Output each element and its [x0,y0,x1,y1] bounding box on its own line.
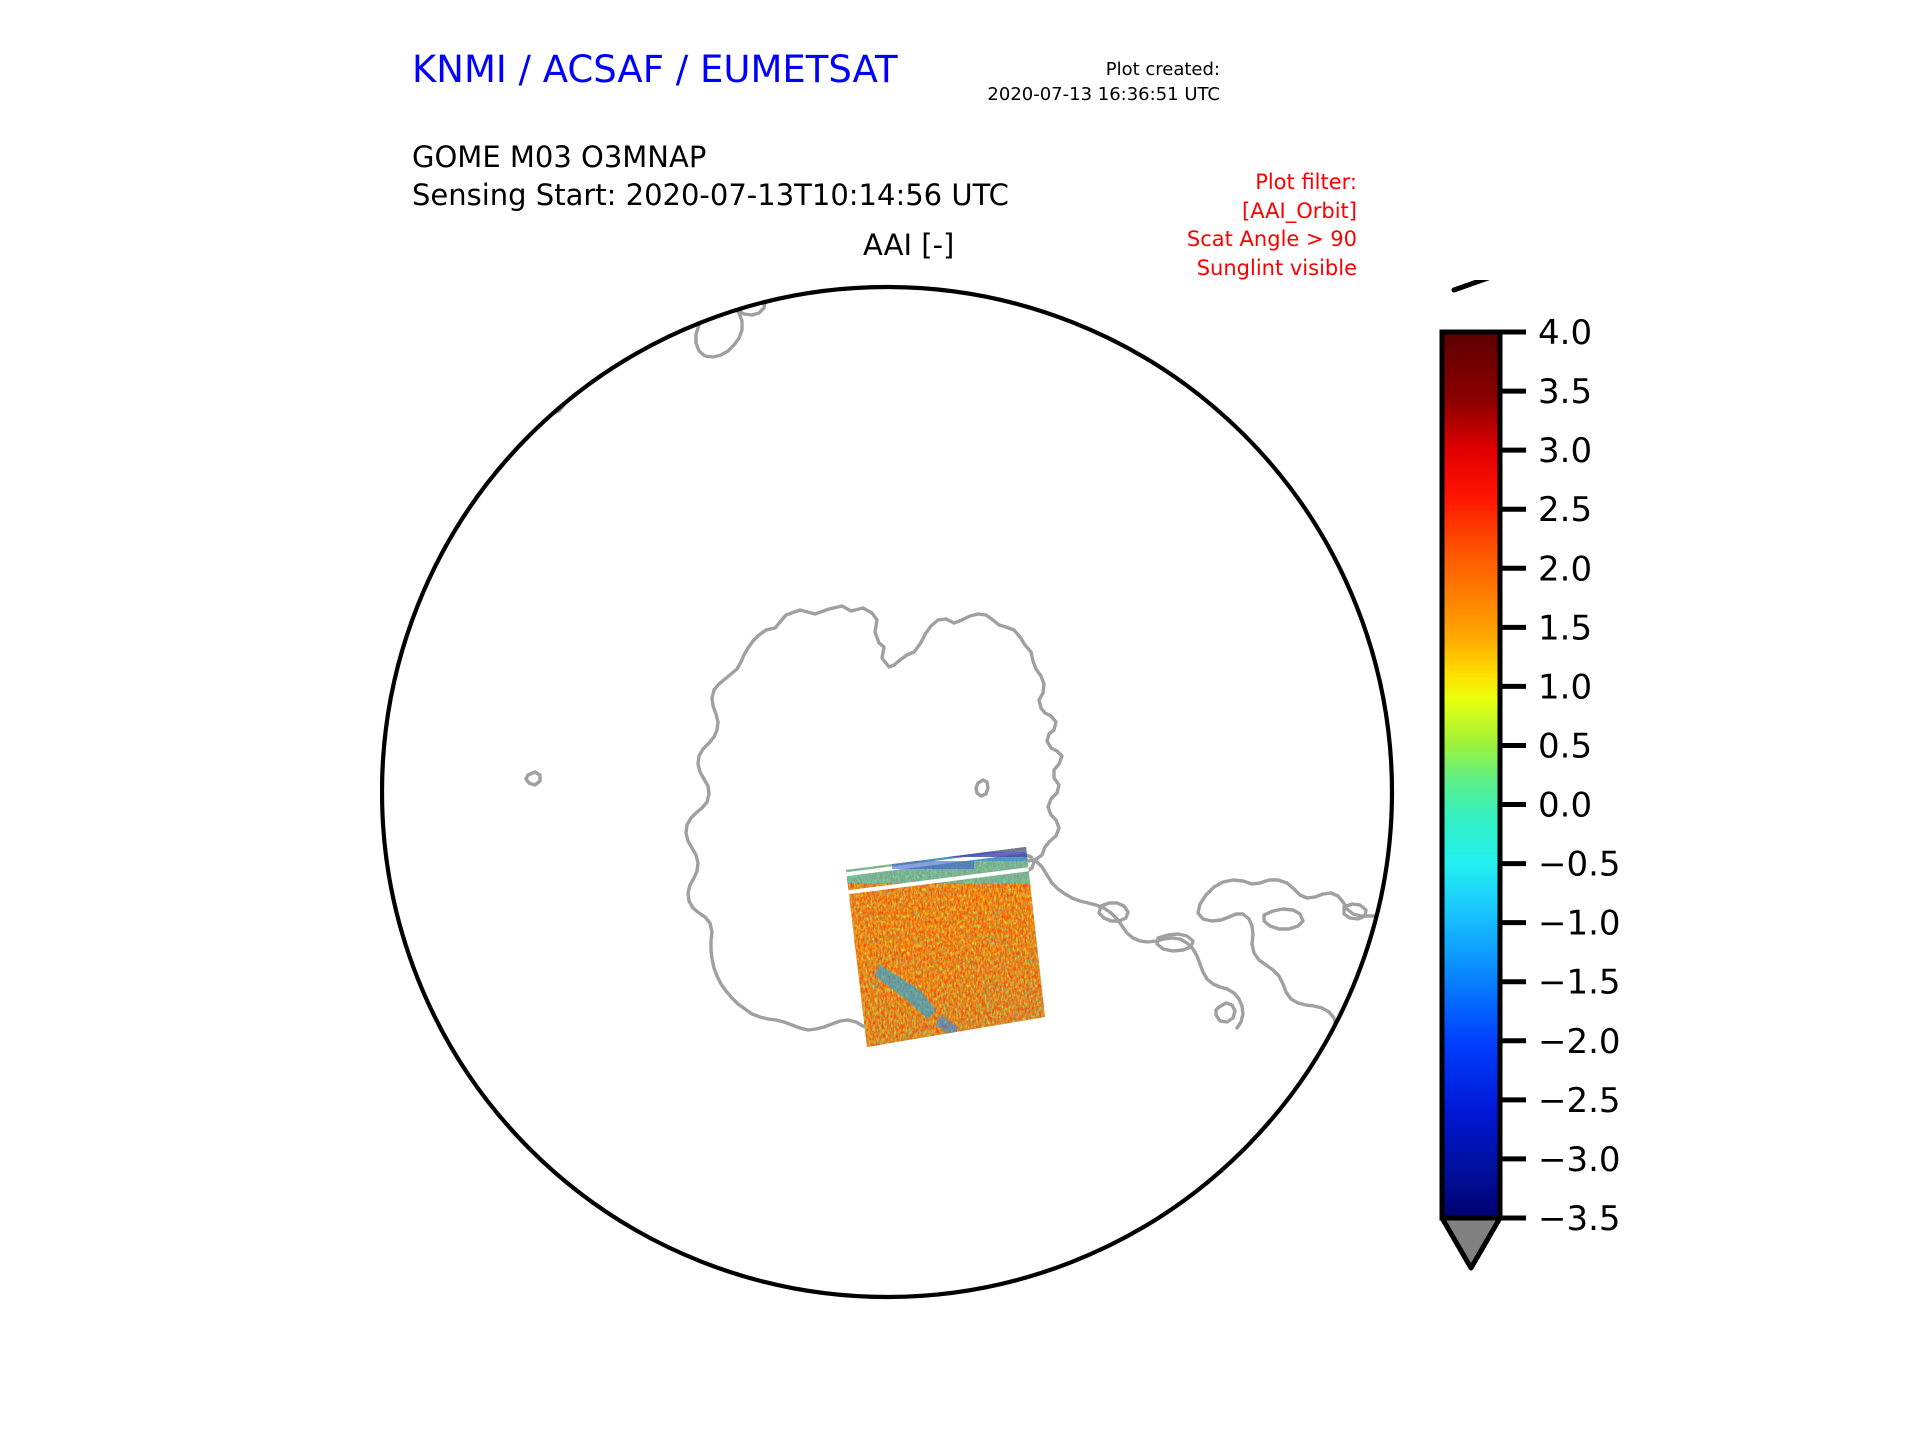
dataset-name: GOME M03 O3MNAP [412,138,1009,176]
organization-title: KNMI / ACSAF / EUMETSAT [412,48,898,91]
colorbar-tick-label: −1.0 [1538,904,1621,944]
colorbar-tick-label: 3.0 [1538,431,1592,471]
plot-filter-block: Plot filter: [AAI_Orbit] Scat Angle > 90… [1187,168,1357,282]
colorbar-tick-label: 1.0 [1538,667,1592,707]
colorbar-tick-label: 1.5 [1538,608,1592,648]
colorbar-tick-label: 4.0 [1538,313,1592,353]
plot-filter-label: Plot filter: [1187,168,1357,197]
colorbar-tick-label: −2.0 [1538,1022,1621,1062]
colorbar-tick-label: 0.5 [1538,726,1592,766]
colorbar-ticks [1500,332,1526,1218]
colorbar-gradient [1442,332,1500,1218]
globe-disc [382,287,1392,1297]
colorbar-tick-label: −3.5 [1538,1199,1621,1239]
colorbar-over-arrow [1454,280,1488,290]
colorbar-tick-label: −1.5 [1538,963,1621,1003]
plot-filter-scat-angle: Scat Angle > 90 [1187,225,1357,254]
colorbar-tick-label: 0.0 [1538,786,1592,826]
colorbar-tick-label: 3.5 [1538,372,1592,412]
colorbar-tick-label: 2.5 [1538,490,1592,530]
colorbar-under-arrow [1442,1218,1500,1268]
colorbar-area: 4.03.53.02.52.01.51.00.50.0−0.5−1.0−1.5−… [1430,280,1830,1320]
map-plot-area [380,275,1395,1310]
sensing-start: Sensing Start: 2020-07-13T10:14:56 UTC [412,176,1009,214]
plot-created-block: Plot created: 2020-07-13 16:36:51 UTC [987,58,1220,108]
plot-created-timestamp: 2020-07-13 16:36:51 UTC [987,83,1220,108]
dataset-info-block: GOME M03 O3MNAP Sensing Start: 2020-07-1… [412,138,1009,215]
colorbar-tick-label: −3.0 [1538,1140,1621,1180]
colorbar-tick-label: −0.5 [1538,845,1621,885]
variable-title: AAI [-] [863,228,954,262]
colorbar-tick-labels: 4.03.53.02.52.01.51.00.50.0−0.5−1.0−1.5−… [1538,313,1621,1239]
plot-created-label: Plot created: [987,58,1220,83]
plot-filter-value: [AAI_Orbit] [1187,197,1357,226]
tasmania-coastline [503,345,566,414]
colorbar-tick-label: −2.5 [1538,1081,1621,1121]
colorbar-tick-label: 2.0 [1538,549,1592,589]
